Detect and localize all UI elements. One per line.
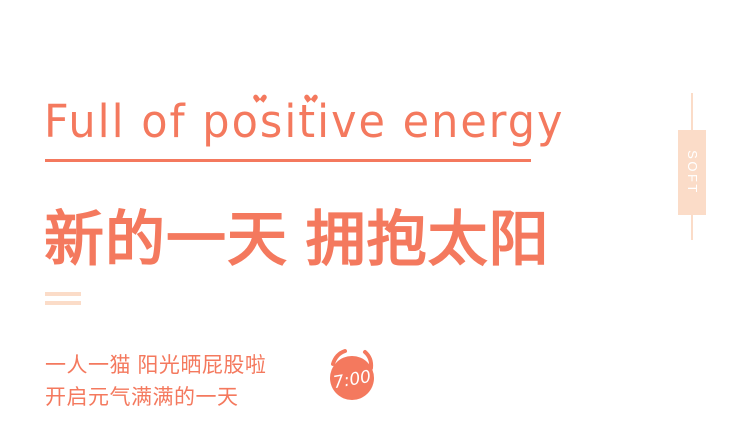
soft-marker-label: SOFT [678, 130, 706, 215]
eyebrow-headline-text: Full of positive energy [44, 96, 564, 149]
subtitle-line-2: 开启元气满满的一天 [45, 382, 266, 414]
banner-canvas: Full of positive energy 新的一天 拥抱太阳 一人一猫 阳… [0, 0, 750, 437]
headline-underline [45, 159, 531, 162]
equals-divider [45, 292, 81, 305]
eyebrow-headline: Full of positive energy [44, 100, 564, 146]
soft-marker: SOFT [678, 93, 706, 240]
subtitle: 一人一猫 阳光晒屁股啦 开启元气满满的一天 [45, 350, 266, 414]
equals-divider-bar [45, 292, 81, 296]
alarm-clock-icon: 7:00 [322, 346, 382, 406]
subtitle-line-1: 一人一猫 阳光晒屁股啦 [45, 350, 266, 382]
equals-divider-bar [45, 301, 81, 305]
soft-marker-plate: SOFT [678, 130, 706, 215]
page-title: 新的一天 拥抱太阳 [44, 208, 550, 273]
